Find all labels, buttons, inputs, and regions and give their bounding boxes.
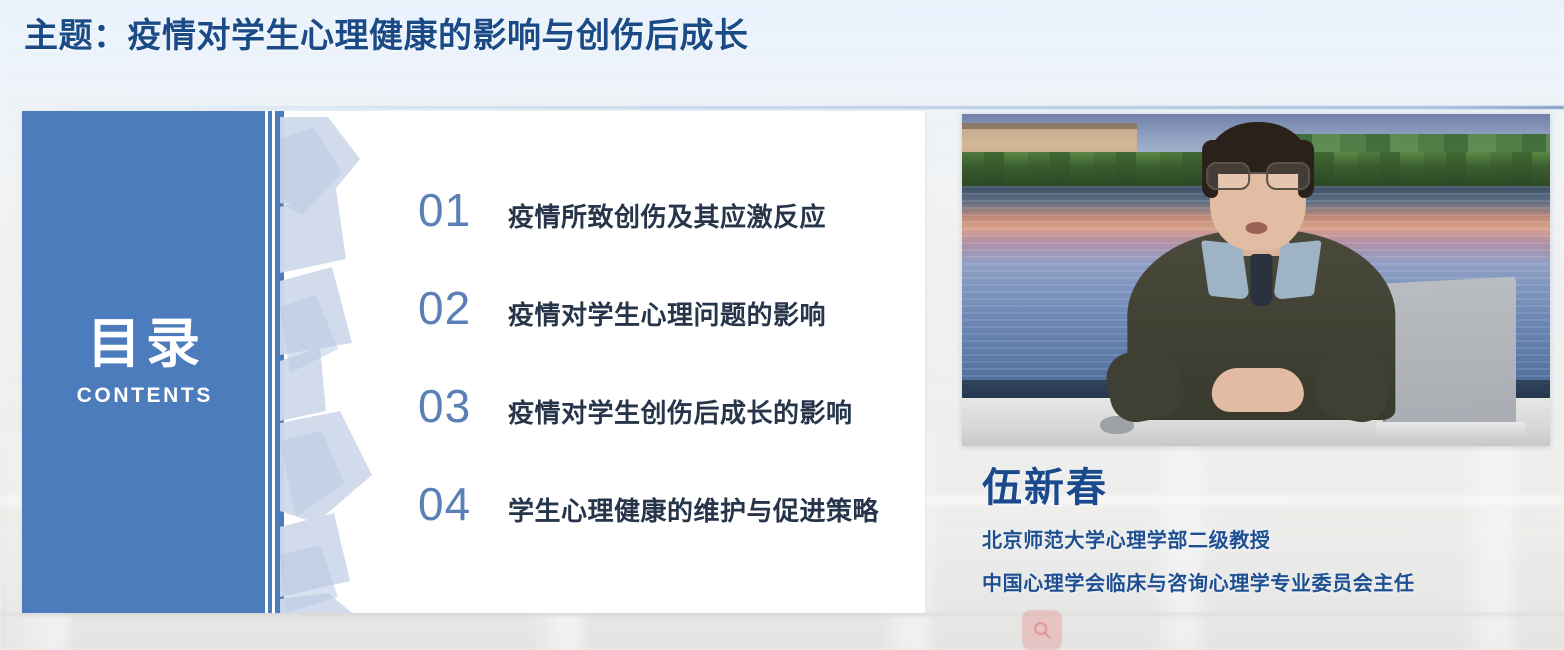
agenda-number: 03	[418, 379, 508, 433]
agenda-label: 学生心理健康的维护与促进策略	[508, 491, 908, 528]
speaker-title-2: 中国心理学会临床与咨询心理学专业委员会主任	[982, 567, 1542, 596]
glasses-icon	[1204, 162, 1312, 188]
glasses-lens-left	[1206, 162, 1250, 190]
glasses-lens-right	[1266, 162, 1310, 190]
speaker-name: 伍新春	[982, 466, 1542, 510]
speaker-video-panel[interactable]	[962, 114, 1550, 446]
agenda-label: 疫情对学生心理问题的影响	[508, 295, 908, 332]
zigzag-decoration	[280, 111, 400, 613]
speaker-tie	[1250, 254, 1272, 306]
accent-rule-thick	[275, 111, 284, 613]
speaker-info: 伍新春 北京师范大学心理学部二级教授 中国心理学会临床与咨询心理学专业委员会主任	[982, 466, 1542, 596]
speaker-mouth	[1245, 222, 1267, 234]
agenda-item[interactable]: 03 疫情对学生创伤后成长的影响	[418, 379, 908, 477]
accent-rule-thin	[268, 111, 272, 613]
agenda-number: 01	[418, 183, 508, 237]
agenda-item[interactable]: 04 学生心理健康的维护与促进策略	[418, 477, 908, 575]
agenda-label: 疫情对学生创伤后成长的影响	[508, 393, 908, 430]
laptop-base	[1376, 422, 1526, 438]
speaker-hands	[1212, 368, 1304, 412]
laptop-icon	[1383, 277, 1516, 432]
speaker-collar-right	[1273, 240, 1322, 300]
agenda-list: 01 疫情所致创伤及其应激反应 02 疫情对学生心理问题的影响 03 疫情对学生…	[418, 183, 908, 575]
watermark-badge	[1022, 610, 1062, 650]
slide-content-card: 目录 CONTENTS 01	[22, 111, 925, 613]
video-bg-building-roof	[962, 123, 1137, 129]
agenda-item[interactable]: 01 疫情所致创伤及其应激反应	[418, 183, 908, 281]
contents-panel: 目录 CONTENTS	[22, 111, 265, 613]
agenda-item[interactable]: 02 疫情对学生心理问题的影响	[418, 281, 908, 379]
contents-heading-en: CONTENTS	[74, 384, 213, 408]
slide-stage: 主题：疫情对学生心理健康的影响与创伤后成长 目录 CONTENTS	[0, 0, 1564, 650]
speaker-title-1: 北京师范大学心理学部二级教授	[982, 524, 1542, 553]
page-title: 主题：疫情对学生心理健康的影响与创伤后成长	[24, 8, 749, 57]
contents-heading-cn: 目录	[82, 316, 205, 373]
agenda-label: 疫情所致创伤及其应激反应	[508, 197, 908, 234]
background-divider-line	[0, 106, 1564, 109]
agenda-number: 04	[418, 477, 508, 531]
agenda-number: 02	[418, 281, 508, 335]
glasses-bridge	[1248, 172, 1268, 174]
background-floor-line	[0, 613, 1564, 617]
search-icon	[1031, 619, 1053, 641]
